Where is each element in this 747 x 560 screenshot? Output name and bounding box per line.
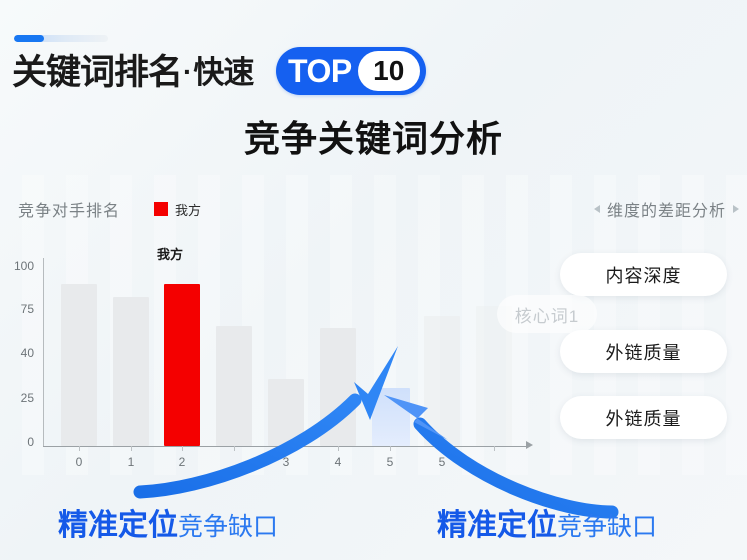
right-panel-title: 维度的差距分析 [607,197,726,221]
triangle-left-icon[interactable] [594,205,600,213]
legend-item-me[interactable]: 我方 [154,200,201,219]
bar-5[interactable] [320,328,356,446]
caption-left-emphasis: 精准定位 [58,500,178,544]
ghost-pill-label: 核心词1 [515,302,579,327]
top-badge[interactable]: TOP 10 [276,47,426,95]
chart-legend-row: 竞争对手排名 我方 [18,197,201,221]
ghost-pill-keyword[interactable]: 核心词1 [497,295,597,333]
y-axis-line [43,258,44,446]
legend-swatch-icon [154,202,168,216]
title-separator: · [183,56,192,88]
top-badge-number: 10 [358,51,420,91]
dimension-pill-backlink-quality-2[interactable]: 外链质量 [560,396,727,439]
y-axis-label: 100 [4,259,34,273]
top-badge-label: TOP [288,55,352,87]
title-row: 关键词排名 · 快速 [12,48,253,96]
dimension-pill-backlink-quality-1[interactable]: 外链质量 [560,330,727,373]
chart-section-title: 竞争对手排名 [18,197,120,221]
page-title: 关键词排名 [12,55,182,90]
triangle-right-icon[interactable] [733,205,739,213]
x-axis-tick-label: 4 [335,455,342,469]
section-heading: 竞争关键词分析 [0,110,747,162]
bar-2-highlighted[interactable] [164,284,200,446]
pill-label: 外链质量 [606,405,682,431]
right-panel-header: 维度的差距分析 [594,197,739,221]
caption-right: 精准定位 竞争缺口 [437,500,657,544]
y-axis-label: 75 [4,302,34,316]
bar-7[interactable] [424,316,460,446]
progress-bar [14,35,108,42]
pill-label: 内容深度 [606,262,682,288]
caption-left: 精准定位 竞争缺口 [58,500,278,544]
caption-left-rest: 竞争缺口 [178,507,278,543]
x-axis-tick-label: 5 [439,455,446,469]
dimension-pill-content-depth[interactable]: 内容深度 [560,253,727,296]
x-axis-tick-label: 3 [283,455,290,469]
caption-right-emphasis: 精准定位 [437,500,557,544]
bar-4[interactable] [268,379,304,446]
caption-right-rest: 竞争缺口 [557,507,657,543]
y-axis-label: 40 [4,346,34,360]
y-axis-label: 0 [4,435,34,449]
x-axis-tick-label: 1 [128,455,135,469]
bar-3[interactable] [216,326,252,446]
x-axis-tick-label: 0 [76,455,83,469]
pill-label: 外链质量 [606,339,682,365]
x-axis-tick-label: 5 [387,455,394,469]
bar-1[interactable] [113,297,149,446]
legend-item-label: 我方 [175,200,201,219]
page-subtitle-inline: 快速 [193,57,253,88]
bar-chart: 100 75 40 25 0 我方 0 1 2 3 4 5 5 [0,250,560,480]
bar-annotation-label: 我方 [157,244,183,263]
x-axis-tick-label: 2 [179,455,186,469]
y-axis-label: 25 [4,391,34,405]
bar-0[interactable] [61,284,97,446]
x-axis-arrow-icon [526,441,533,449]
bar-6-faded[interactable] [372,388,410,446]
progress-bar-fill [14,35,44,42]
